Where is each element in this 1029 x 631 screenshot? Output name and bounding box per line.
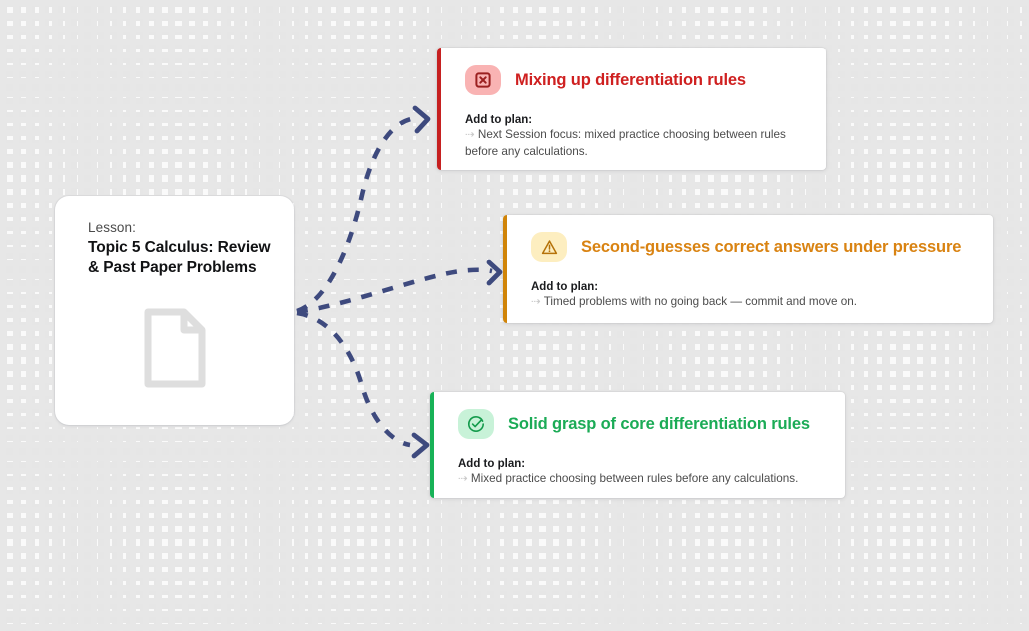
plan-text-strength: ⇢ Mixed practice choosing between rules … bbox=[458, 471, 823, 487]
connector-lesson-to-strength bbox=[297, 313, 410, 445]
card-inner: Solid grasp of core differentiation rule… bbox=[430, 392, 845, 488]
plan-text-mistake: ⇢ Next Session focus: mixed practice cho… bbox=[465, 127, 804, 159]
card-body: Add to plan: ⇢ Timed problems with no go… bbox=[531, 280, 993, 311]
check-circle-icon bbox=[467, 415, 485, 433]
connector-lesson-to-warning bbox=[297, 270, 492, 312]
plan-label-strength: Add to plan: bbox=[458, 457, 823, 471]
accent-bar-warning bbox=[503, 215, 507, 323]
lesson-node[interactable]: Lesson: Topic 5 Calculus: Review & Past … bbox=[55, 196, 294, 425]
arrowhead-mistake bbox=[415, 108, 428, 131]
lesson-icon-wrap bbox=[55, 308, 294, 390]
card-header: Solid grasp of core differentiation rule… bbox=[458, 409, 845, 439]
plan-text-value: Next Session focus: mixed practice choos… bbox=[465, 128, 786, 157]
arrowhead-warning bbox=[489, 262, 500, 283]
insight-card-mistake[interactable]: Mixing up differentiation rules Add to p… bbox=[437, 48, 826, 170]
accent-bar-strength bbox=[430, 392, 434, 498]
insight-card-strength[interactable]: Solid grasp of core differentiation rule… bbox=[430, 392, 845, 498]
badge-warning bbox=[531, 232, 567, 262]
arrowhead-strength bbox=[414, 435, 427, 456]
plan-label-warning: Add to plan: bbox=[531, 280, 971, 294]
plan-arrow-icon: ⇢ bbox=[458, 473, 468, 485]
card-body: Add to plan: ⇢ Next Session focus: mixed… bbox=[465, 113, 826, 159]
connector-lesson-to-mistake bbox=[297, 119, 411, 311]
flow-canvas: Lesson: Topic 5 Calculus: Review & Past … bbox=[0, 0, 1029, 631]
card-inner: Mixing up differentiation rules Add to p… bbox=[437, 48, 826, 159]
document-icon bbox=[142, 308, 208, 390]
lesson-label: Lesson: bbox=[88, 220, 272, 235]
plan-text-value: Mixed practice choosing between rules be… bbox=[471, 472, 798, 485]
card-inner: Second-guesses correct answers under pre… bbox=[503, 215, 993, 311]
insight-card-warning[interactable]: Second-guesses correct answers under pre… bbox=[503, 215, 993, 323]
card-header: Second-guesses correct answers under pre… bbox=[531, 232, 993, 262]
card-header: Mixing up differentiation rules bbox=[465, 65, 826, 95]
badge-strength bbox=[458, 409, 494, 439]
lesson-title: Topic 5 Calculus: Review & Past Paper Pr… bbox=[88, 238, 272, 279]
plan-label-mistake: Add to plan: bbox=[465, 113, 804, 127]
card-title-strength: Solid grasp of core differentiation rule… bbox=[508, 415, 810, 434]
plan-arrow-icon: ⇢ bbox=[465, 129, 475, 141]
plan-text-value: Timed problems with no going back — comm… bbox=[544, 295, 857, 308]
card-body: Add to plan: ⇢ Mixed practice choosing b… bbox=[458, 457, 845, 488]
card-title-warning: Second-guesses correct answers under pre… bbox=[581, 238, 961, 257]
x-square-icon bbox=[475, 72, 491, 88]
warning-triangle-icon bbox=[541, 239, 558, 256]
card-title-mistake: Mixing up differentiation rules bbox=[515, 71, 746, 90]
badge-mistake bbox=[465, 65, 501, 95]
accent-bar-mistake bbox=[437, 48, 441, 170]
plan-arrow-icon: ⇢ bbox=[531, 296, 541, 308]
plan-text-warning: ⇢ Timed problems with no going back — co… bbox=[531, 294, 971, 310]
